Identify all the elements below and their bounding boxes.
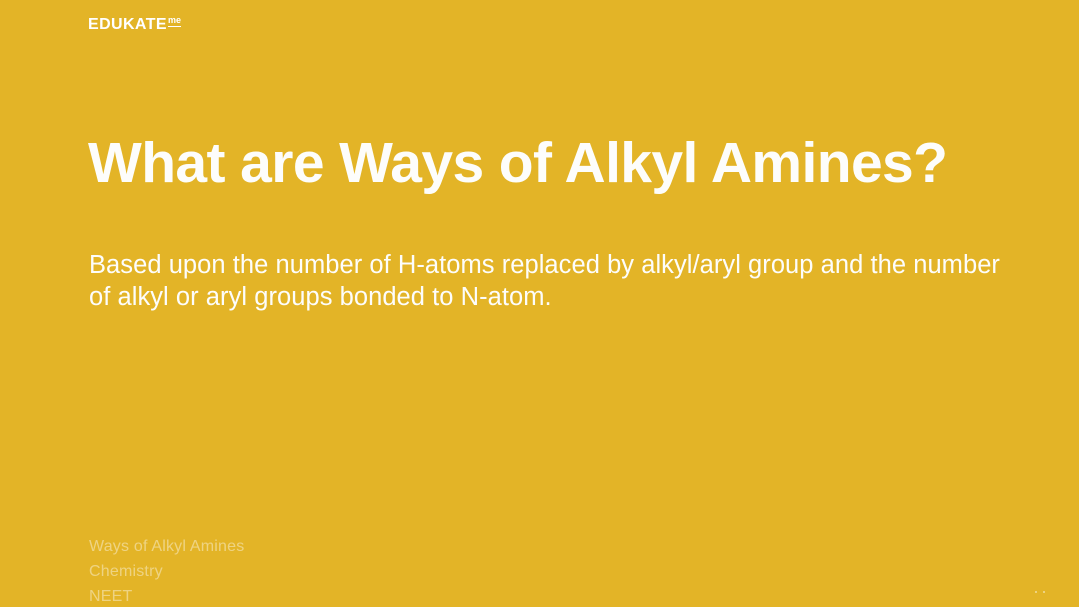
page-marker-dots xyxy=(1035,591,1045,593)
page-marker-dot xyxy=(1035,591,1037,593)
slide-footer-meta: Ways of Alkyl Amines Chemistry NEET xyxy=(89,534,244,607)
page-marker-dot xyxy=(1043,591,1045,593)
footer-topic: Ways of Alkyl Amines xyxy=(89,534,244,559)
presentation-slide: EDUKATE me What are Ways of Alkyl Amines… xyxy=(0,0,1079,607)
edukate-logo[interactable]: EDUKATE me xyxy=(88,17,181,33)
slide-title: What are Ways of Alkyl Amines? xyxy=(88,133,1008,195)
slide-body-text: Based upon the number of H-atoms replace… xyxy=(89,249,1004,314)
logo-superscript: me xyxy=(168,16,181,27)
footer-exam: NEET xyxy=(89,584,244,607)
footer-subject: Chemistry xyxy=(89,559,244,584)
logo-wordmark: EDUKATE xyxy=(88,17,167,33)
